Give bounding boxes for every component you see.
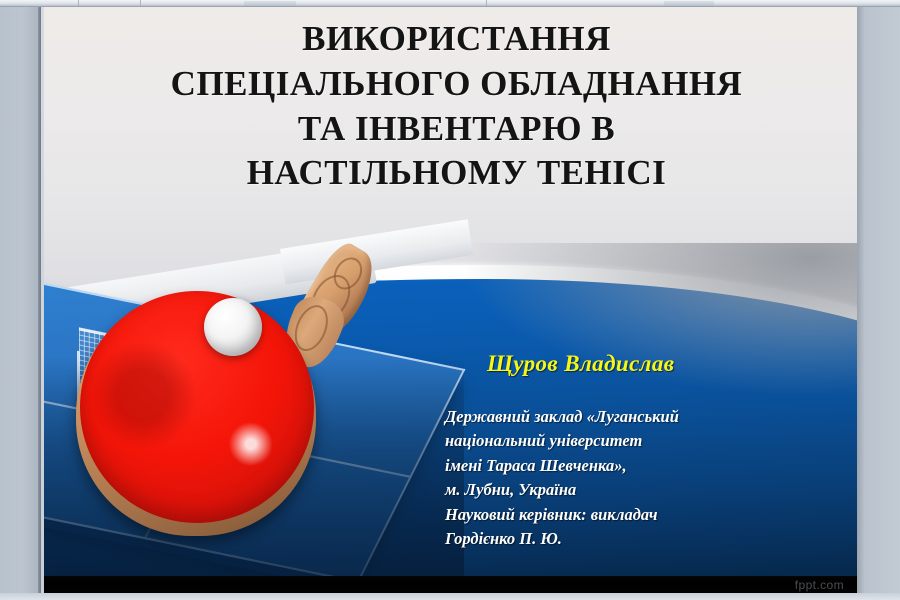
slide-title: ВИКОРИСТАННЯ СПЕЦІАЛЬНОГО ОБЛАДНАННЯ ТА … [84,17,829,196]
watermark-text: fppt.com [795,578,844,592]
page-frame-left [0,7,41,593]
affiliation-line-6: Гордієнко П. Ю. [445,527,845,551]
presentation-slide: ВИКОРИСТАННЯ СПЕЦІАЛЬНОГО ОБЛАДНАННЯ ТА … [44,7,857,593]
affiliation-line-3: імені Тараса Шевченка», [445,454,845,478]
page-frame-bottom [0,593,900,600]
slide-bottom-bar [44,576,857,593]
ping-pong-ball [204,298,262,356]
back-wall-upper [280,219,473,284]
title-line-3: ТА ІНВЕНТАРЮ В [84,107,829,152]
author-name: Щуров Владислав [487,351,857,377]
affiliation-line-1: Державний заклад «Луганський [445,405,845,429]
slide-viewer: ВИКОРИСТАННЯ СПЕЦІАЛЬНОГО ОБЛАДНАННЯ ТА … [0,0,900,600]
affiliation-line-2: національний університет [445,429,845,453]
affiliation-line-4: м. Лубни, Україна [445,478,845,502]
page-frame-right [857,7,900,593]
affiliation-block: Державний заклад «Луганський національни… [445,405,845,551]
title-line-1: ВИКОРИСТАННЯ [84,17,829,62]
paddle-rubber-face [80,291,314,523]
affiliation-line-5: Науковий керівник: викладач [445,503,845,527]
title-line-2: СПЕЦІАЛЬНОГО ОБЛАДНАННЯ [84,62,829,107]
table-tennis-illustration [44,239,464,593]
title-line-4: НАСТІЛЬНОМУ ТЕНІСІ [84,151,829,196]
app-toolbar-strip[interactable] [0,0,900,7]
